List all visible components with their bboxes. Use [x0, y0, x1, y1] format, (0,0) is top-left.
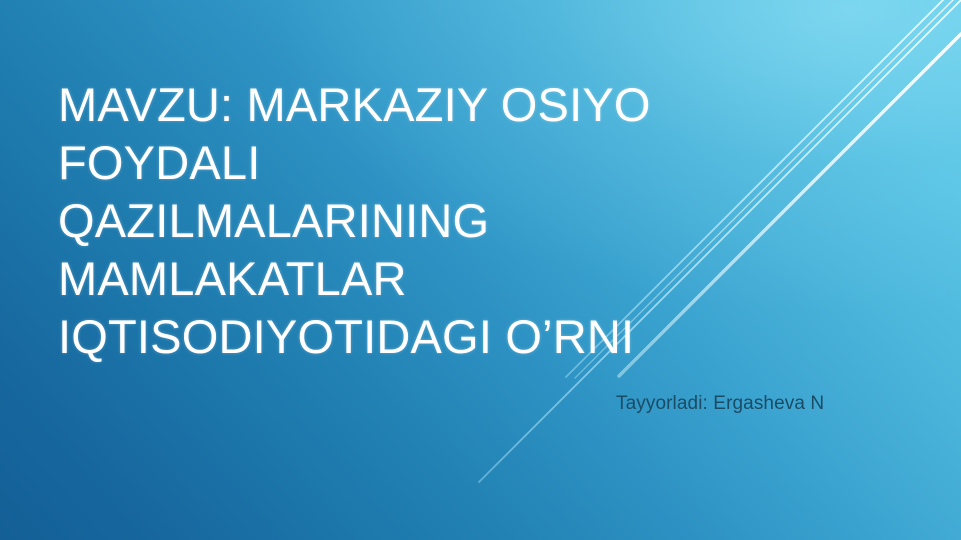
page-title: MAVZU: MARKAZIY OSIYO FOYDALI QAZILMALAR… [58, 76, 698, 366]
title-slide: MAVZU: MARKAZIY OSIYO FOYDALI QAZILMALAR… [0, 0, 961, 540]
title-line-2: FOYDALI [58, 134, 698, 192]
title-line-3: QAZILMALARINING [58, 192, 698, 250]
title-line-4: MAMLAKATLAR [58, 250, 698, 308]
slide-subtitle-author: Tayyorladi: Ergasheva N [616, 392, 824, 416]
title-line-5: IQTISODIYOTIDAGI O’RNI [58, 308, 698, 366]
title-line-1: MAVZU: MARKAZIY OSIYO [58, 76, 698, 134]
